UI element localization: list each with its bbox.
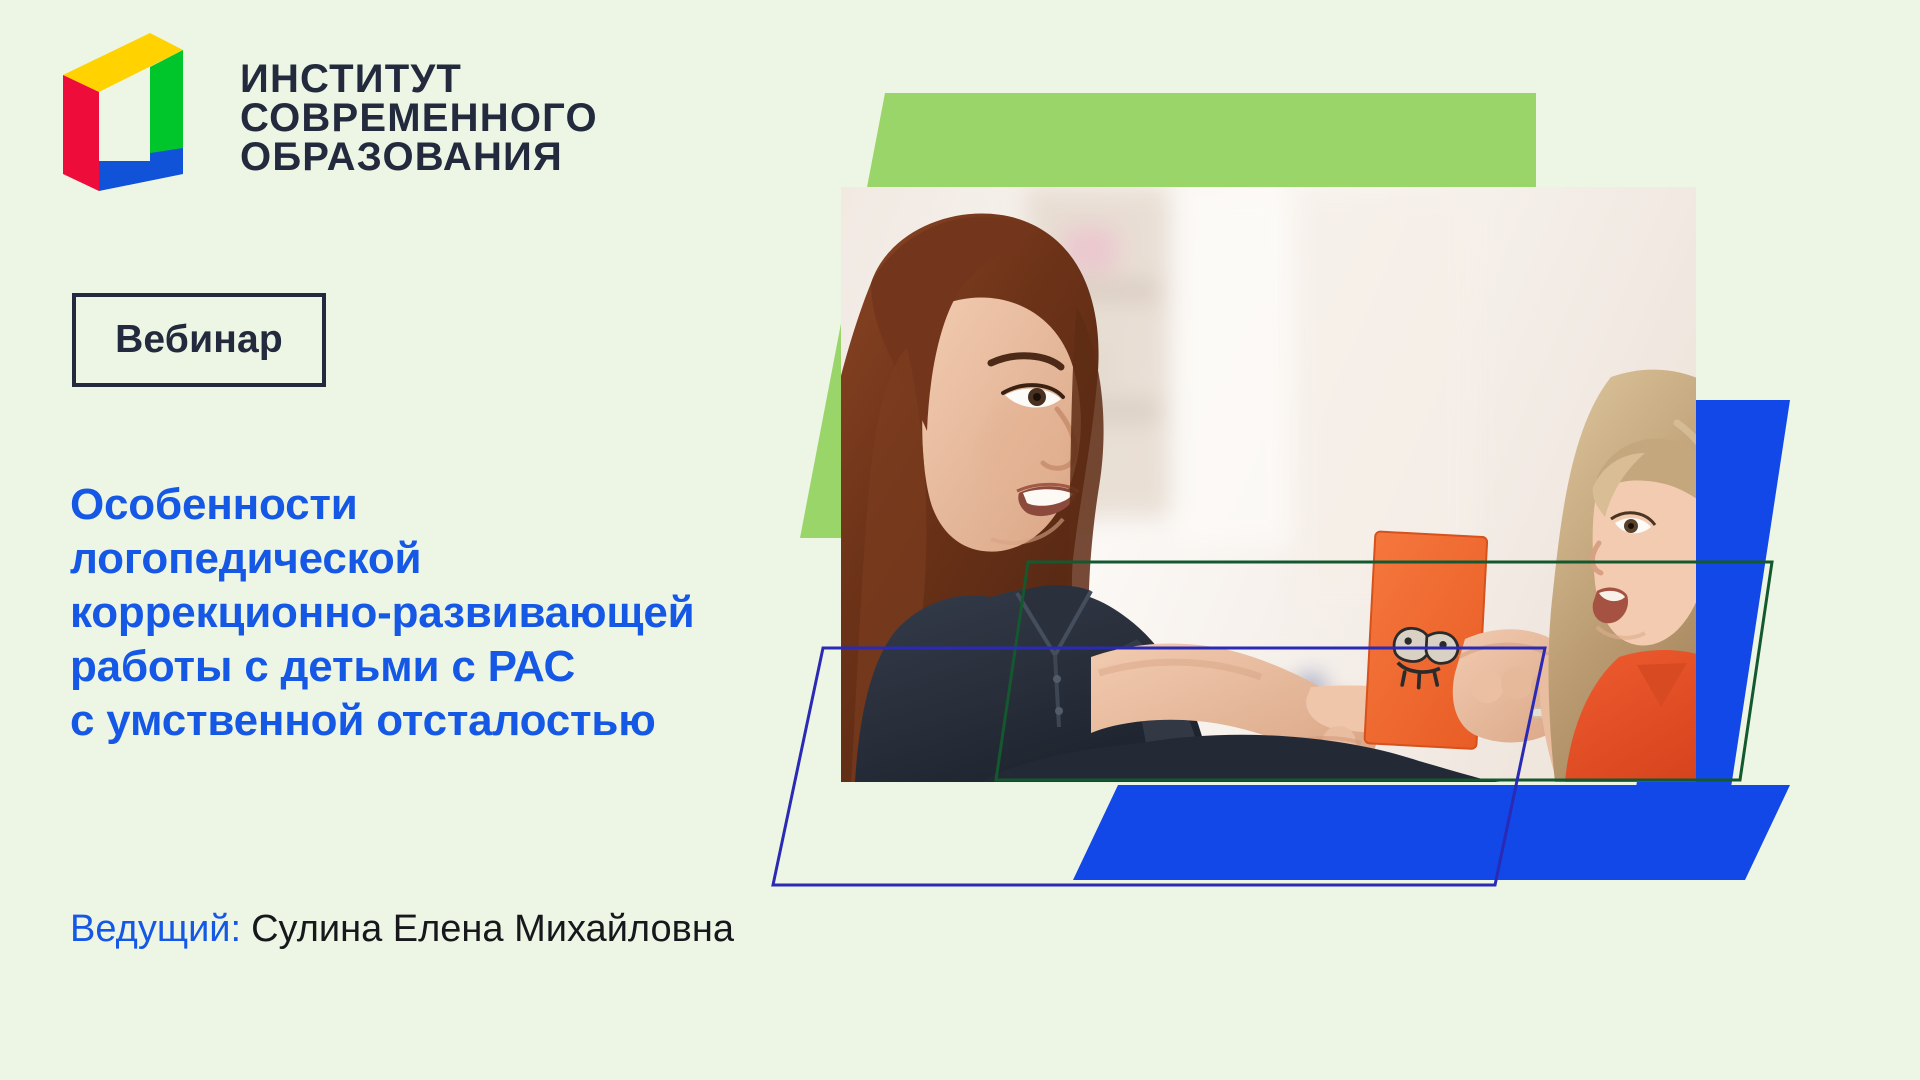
webinar-photo <box>841 187 1696 782</box>
title-line-1: Особенности <box>70 478 830 532</box>
title-line-4: работы с детьми с РАС <box>70 640 830 694</box>
page-title: Особенности логопедической коррекционно-… <box>70 478 830 749</box>
presenter-name: Сулина Елена Михайловна <box>251 908 734 950</box>
webinar-badge: Вебинар <box>72 293 326 387</box>
isometric-cube-logo-icon <box>58 28 188 196</box>
brand-wordmark: ИНСТИТУТ СОВРЕМЕННОГО ОБРАЗОВАНИЯ <box>240 60 598 178</box>
title-line-5: с умственной отсталостью <box>70 694 830 748</box>
webinar-badge-label: Вебинар <box>115 318 283 362</box>
wordmark-line-3: ОБРАЗОВАНИЯ <box>240 138 598 177</box>
photo-illustration <box>841 187 1696 782</box>
blue-parallelogram-bottom <box>1073 785 1790 880</box>
presenter-label: Ведущий: <box>70 908 241 950</box>
title-line-2: логопедической <box>70 532 830 586</box>
wordmark-line-1: ИНСТИТУТ <box>240 60 598 99</box>
wordmark-line-2: СОВРЕМЕННОГО <box>240 99 598 138</box>
logo-face-green <box>150 50 183 166</box>
brand-logo[interactable]: ИНСТИТУТ СОВРЕМЕННОГО ОБРАЗОВАНИЯ <box>58 28 678 198</box>
logo-face-red <box>63 75 99 191</box>
webinar-promo-banner: ИНСТИТУТ СОВРЕМЕННОГО ОБРАЗОВАНИЯ Вебина… <box>0 0 1920 1080</box>
title-line-3: коррекционно-развивающей <box>70 586 830 640</box>
presenter-line: Ведущий:Сулина Елена Михайловна <box>70 908 734 951</box>
